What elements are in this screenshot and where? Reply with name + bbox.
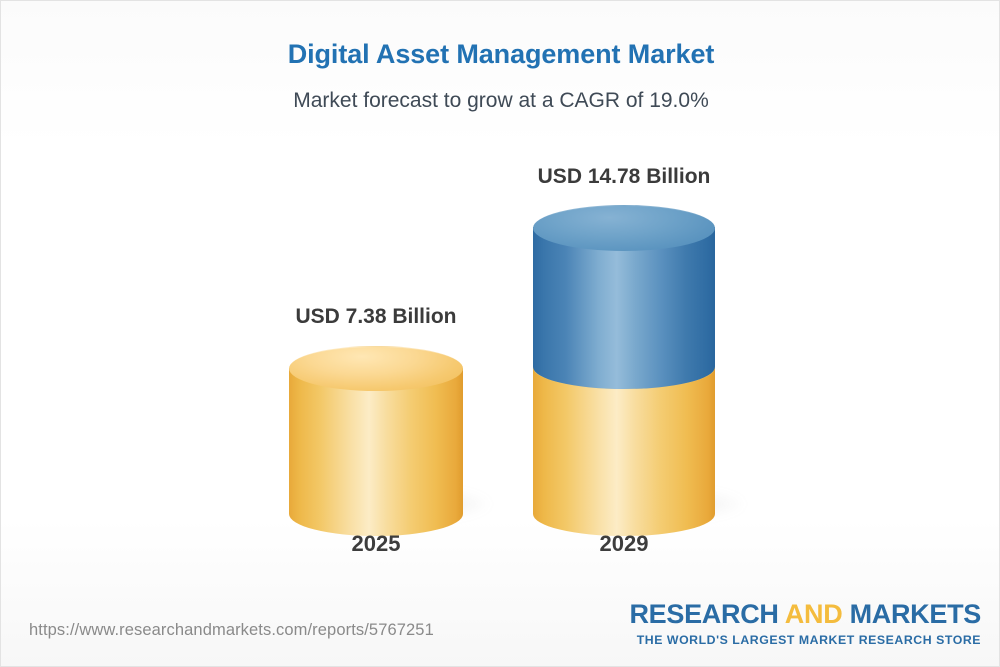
bar-2029-top-cap [533, 205, 715, 251]
report-url[interactable]: https://www.researchandmarkets.com/repor… [29, 621, 434, 640]
bar-2029-value-label: USD 14.78 Billion [459, 165, 789, 189]
research-and-markets-logo[interactable]: RESEARCH AND MARKETS THE WORLD'S LARGEST… [629, 601, 981, 646]
bar-2029-growth-bottom-cap [533, 345, 715, 389]
bar-2029-category-label: 2029 [534, 531, 714, 557]
bar-2029-base-segment [533, 367, 715, 514]
logo-word-and: AND [779, 599, 850, 629]
logo-word-markets: MARKETS [850, 599, 981, 629]
chart-plot-area: USD 7.38 Billion 2025 USD 14.78 Billion … [1, 1, 1000, 667]
logo-wordmark: RESEARCH AND MARKETS [629, 601, 981, 628]
bar-2025-category-label: 2025 [286, 531, 466, 557]
logo-tagline: THE WORLD'S LARGEST MARKET RESEARCH STOR… [629, 634, 981, 646]
chart-card: Digital Asset Management Market Market f… [0, 0, 1000, 667]
bar-2025-value-label: USD 7.38 Billion [211, 305, 541, 329]
logo-word-research: RESEARCH [629, 599, 778, 629]
bar-2025-top-cap [289, 346, 463, 391]
